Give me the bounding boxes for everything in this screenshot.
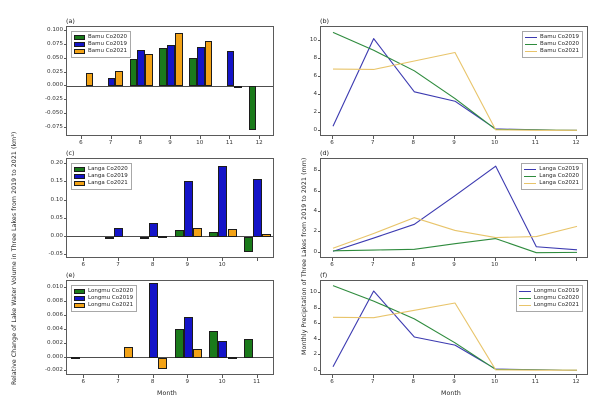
ytick-label-e-5: 0.000 (32, 354, 63, 360)
y-axis-label-left: Relative Change of Lake Water Volume in … (11, 132, 18, 385)
legend-item-b-1[interactable]: Bamu Co2020 (525, 41, 579, 48)
ytick-label-d-4: 8 (286, 167, 317, 173)
xtick-label-d-0: 6 (330, 262, 334, 268)
x-axis-label-e: Month (157, 390, 177, 397)
xtick-label-e-4: 10 (218, 379, 225, 385)
xtick-label-c-3: 9 (186, 262, 190, 268)
ytick-label-c-2: 0.10 (32, 197, 63, 203)
bar-a-1-3[interactable] (167, 45, 175, 87)
legend-item-f-2[interactable]: Longmu Co2021 (519, 302, 579, 309)
xtick-label-b-6: 12 (572, 140, 579, 146)
xtick-label-d-3: 9 (452, 262, 456, 268)
ytick-label-f-0: 0 (286, 367, 317, 373)
xtick-mark-c-3 (187, 258, 188, 261)
bar-c-2-4[interactable] (228, 229, 237, 237)
bar-e-2-2[interactable] (158, 358, 167, 370)
xtick-mark-c-0 (83, 258, 84, 261)
ytick-label-c-5: -0.05 (32, 251, 63, 257)
legend-label-e-1: Longmu Co2019 (88, 295, 133, 302)
xtick-label-b-3: 9 (452, 140, 456, 146)
xtick-mark-c-1 (118, 258, 119, 261)
ytick-label-b-1: 2 (286, 109, 317, 115)
ytick-label-c-1: 0.15 (32, 178, 63, 184)
legend-label-b-0: Bamu Co2019 (540, 34, 579, 41)
legend-item-a-2[interactable]: Bamu Co2021 (74, 48, 127, 55)
ytick-label-b-3: 6 (286, 73, 317, 79)
ytick-label-f-1: 2 (286, 351, 317, 357)
ytick-label-e-4: 0.002 (32, 340, 63, 346)
plot-area-b: Bamu Co2019Bamu Co2020Bamu Co2021 (320, 26, 588, 136)
bar-a-2-0[interactable] (86, 73, 94, 86)
legend-label-d-0: Langa Co2019 (539, 166, 579, 173)
bar-a-1-1[interactable] (108, 78, 116, 86)
xtick-label-c-2: 8 (151, 262, 155, 268)
legend-line-f-0 (519, 291, 531, 292)
legend-label-e-2: Longmu Co2021 (88, 302, 133, 309)
legend-label-f-0: Longmu Co2019 (534, 288, 579, 295)
ytick-label-b-2: 4 (286, 91, 317, 97)
legend-line-d-1 (524, 176, 536, 177)
ytick-label-a-4: 0.000 (32, 82, 63, 88)
legend-a: Bamu Co2020Bamu Co2019Bamu Co2021 (71, 31, 131, 58)
xtick-label-a-4: 10 (196, 140, 203, 146)
panel-d: Langa Co2019Langa Co2020Langa Co2021 (320, 158, 588, 258)
xtick-label-b-1: 7 (371, 140, 375, 146)
xtick-label-a-6: 12 (256, 140, 263, 146)
legend-swatch-c-1 (74, 174, 85, 179)
ytick-label-e-2: 0.006 (32, 312, 63, 318)
legend-line-f-1 (519, 298, 531, 299)
xtick-mark-a-4 (200, 136, 201, 139)
plot-area-d: Langa Co2019Langa Co2020Langa Co2021 (320, 158, 588, 258)
ytick-label-e-1: 0.008 (32, 298, 63, 304)
bar-a-2-3[interactable] (175, 33, 183, 87)
ytick-label-d-3: 6 (286, 188, 317, 194)
panel-label-c: (c) (66, 149, 75, 157)
legend-label-d-2: Langa Co2021 (539, 180, 579, 187)
legend-line-d-0 (524, 169, 536, 170)
legend-label-f-2: Longmu Co2021 (534, 302, 579, 309)
legend-item-c-2[interactable]: Langa Co2021 (74, 180, 128, 187)
ytick-label-e-3: 0.004 (32, 326, 63, 332)
bar-c-0-5[interactable] (244, 237, 253, 253)
panel-label-a: (a) (66, 17, 75, 25)
legend-label-c-1: Langa Co2019 (88, 173, 128, 180)
bar-c-2-2[interactable] (158, 236, 167, 238)
line-f-2 (333, 303, 577, 370)
panel-b: Bamu Co2019Bamu Co2020Bamu Co2021 (320, 26, 588, 136)
ytick-label-a-6: -0.050 (32, 110, 63, 116)
ytick-label-e-0: 0.010 (32, 284, 63, 290)
xtick-mark-a-1 (111, 136, 112, 139)
ytick-label-f-2: 4 (286, 336, 317, 342)
xtick-label-f-1: 7 (371, 379, 375, 385)
legend-c: Langa Co2020Langa Co2019Langa Co2021 (71, 163, 132, 190)
bar-a-0-6[interactable] (249, 86, 257, 130)
xtick-label-c-0: 6 (82, 262, 86, 268)
ytick-label-a-2: 0.050 (32, 55, 63, 61)
xtick-label-f-3: 9 (452, 379, 456, 385)
ytick-label-c-0: 0.20 (32, 160, 63, 166)
figure-canvas: Relative Change of Lake Water Volume in … (0, 0, 600, 413)
legend-item-f-1[interactable]: Longmu Co2020 (519, 295, 579, 302)
xtick-label-d-1: 7 (371, 262, 375, 268)
xtick-mark-e-2 (153, 375, 154, 378)
ytick-label-a-3: 0.025 (32, 69, 63, 75)
legend-item-c-1[interactable]: Langa Co2019 (74, 173, 128, 180)
ytick-label-d-1: 2 (286, 228, 317, 234)
bar-a-0-2[interactable] (130, 59, 138, 86)
legend-line-d-2 (524, 183, 536, 184)
xtick-label-f-4: 10 (491, 379, 498, 385)
ytick-label-c-3: 0.05 (32, 215, 63, 221)
bar-e-0-0[interactable] (71, 357, 80, 359)
ytick-label-b-4: 8 (286, 55, 317, 61)
xtick-label-a-1: 7 (109, 140, 113, 146)
legend-item-c-0[interactable]: Langa Co2020 (74, 166, 128, 173)
legend-item-e-0[interactable]: Longmu Co2020 (74, 288, 133, 295)
panel-label-f: (f) (320, 271, 327, 279)
bar-c-1-3[interactable] (184, 181, 193, 236)
ytick-label-b-0: 0 (286, 127, 317, 133)
legend-label-d-1: Langa Co2020 (539, 173, 579, 180)
legend-swatch-e-1 (74, 296, 85, 301)
xtick-label-c-4: 10 (218, 262, 225, 268)
ytick-label-f-3: 6 (286, 320, 317, 326)
legend-label-c-0: Langa Co2020 (88, 166, 128, 173)
bar-c-1-4[interactable] (218, 166, 227, 236)
ytick-label-a-7: -0.075 (32, 124, 63, 130)
xtick-mark-a-5 (229, 136, 230, 139)
xtick-mark-a-6 (259, 136, 260, 139)
ytick-label-d-0: 0 (286, 249, 317, 255)
bar-c-0-1[interactable] (105, 237, 114, 239)
zero-line-e (67, 357, 273, 358)
panel-label-d: (d) (320, 149, 329, 157)
legend-label-b-1: Bamu Co2020 (540, 41, 579, 48)
line-b-2 (333, 52, 577, 130)
legend-d: Langa Co2019Langa Co2020Langa Co2021 (521, 163, 583, 190)
xtick-label-a-0: 6 (79, 140, 83, 146)
legend-line-b-1 (525, 44, 537, 45)
bar-c-0-4[interactable] (209, 232, 218, 237)
legend-f: Longmu Co2019Longmu Co2020Longmu Co2021 (516, 285, 583, 312)
bar-c-1-2[interactable] (149, 223, 158, 236)
legend-item-d-2[interactable]: Langa Co2021 (524, 180, 579, 187)
legend-label-e-0: Longmu Co2020 (88, 288, 133, 295)
ytick-label-d-2: 4 (286, 208, 317, 214)
plot-area-f: Longmu Co2019Longmu Co2020Longmu Co2021 (320, 280, 588, 375)
xtick-label-c-1: 7 (116, 262, 120, 268)
legend-item-a-1[interactable]: Bamu Co2019 (74, 41, 127, 48)
xtick-mark-e-3 (187, 375, 188, 378)
legend-item-b-0[interactable]: Bamu Co2019 (525, 34, 579, 41)
ytick-label-a-1: 0.075 (32, 41, 63, 47)
legend-swatch-a-1 (74, 42, 85, 47)
xtick-mark-e-4 (222, 375, 223, 378)
xtick-label-f-2: 8 (412, 379, 416, 385)
xtick-mark-e-0 (83, 375, 84, 378)
xtick-mark-c-4 (222, 258, 223, 261)
xtick-label-b-4: 10 (491, 140, 498, 146)
legend-item-f-0[interactable]: Longmu Co2019 (519, 288, 579, 295)
ytick-label-f-4: 8 (286, 305, 317, 311)
xtick-label-b-2: 8 (412, 140, 416, 146)
legend-label-f-1: Longmu Co2020 (534, 295, 579, 302)
legend-swatch-a-2 (74, 49, 85, 54)
xtick-label-e-3: 9 (186, 379, 190, 385)
bar-a-2-1[interactable] (115, 71, 123, 86)
legend-swatch-e-0 (74, 289, 85, 294)
panel-e: Longmu Co2020Longmu Co2019Longmu Co2021 (66, 280, 274, 375)
ytick-label-c-4: 0.00 (32, 233, 63, 239)
panel-label-b: (b) (320, 17, 329, 25)
bar-e-1-4[interactable] (218, 341, 227, 357)
bar-a-2-5[interactable] (234, 86, 242, 88)
xtick-mark-c-2 (153, 258, 154, 261)
bar-e-1-3[interactable] (184, 317, 193, 358)
bar-e-0-5[interactable] (244, 339, 253, 358)
legend-swatch-e-2 (74, 303, 85, 308)
bar-e-2-3[interactable] (193, 349, 202, 358)
legend-item-a-0[interactable]: Bamu Co2020 (74, 34, 127, 41)
bar-a-0-4[interactable] (189, 58, 197, 87)
legend-label-a-0: Bamu Co2020 (88, 34, 127, 41)
legend-e: Longmu Co2020Longmu Co2019Longmu Co2021 (71, 285, 137, 312)
plot-area-a: Bamu Co2020Bamu Co2019Bamu Co2021 (66, 26, 274, 136)
panel-label-e: (e) (66, 271, 75, 279)
bar-a-2-2[interactable] (145, 54, 153, 86)
xtick-mark-a-2 (140, 136, 141, 139)
legend-item-d-1[interactable]: Langa Co2020 (524, 173, 579, 180)
bar-a-1-5[interactable] (227, 51, 235, 86)
xtick-label-a-2: 8 (139, 140, 143, 146)
xtick-label-d-2: 8 (412, 262, 416, 268)
xtick-label-f-0: 6 (330, 379, 334, 385)
bar-a-1-4[interactable] (197, 47, 205, 87)
bar-e-2-4[interactable] (228, 357, 237, 359)
panel-c: Langa Co2020Langa Co2019Langa Co2021 (66, 158, 274, 258)
xtick-mark-e-5 (257, 375, 258, 378)
ytick-label-b-5: 10 (286, 37, 317, 43)
bar-e-1-2[interactable] (149, 283, 158, 358)
bar-e-2-1[interactable] (124, 347, 133, 358)
xtick-label-e-2: 8 (151, 379, 155, 385)
xtick-mark-c-5 (257, 258, 258, 261)
xtick-label-d-4: 10 (491, 262, 498, 268)
bar-c-2-3[interactable] (193, 228, 202, 236)
bar-e-0-4[interactable] (209, 331, 218, 358)
ytick-label-a-5: -0.025 (32, 96, 63, 102)
bar-e-0-3[interactable] (175, 329, 184, 358)
legend-item-d-0[interactable]: Langa Co2019 (524, 166, 579, 173)
xtick-mark-a-0 (81, 136, 82, 139)
legend-line-b-0 (525, 37, 537, 38)
panel-f: Longmu Co2019Longmu Co2020Longmu Co2021 (320, 280, 588, 375)
legend-item-e-1[interactable]: Longmu Co2019 (74, 295, 133, 302)
bar-c-1-5[interactable] (253, 179, 262, 237)
legend-label-a-1: Bamu Co2019 (88, 41, 127, 48)
panel-a: Bamu Co2020Bamu Co2019Bamu Co2021 (66, 26, 274, 136)
bar-c-0-2[interactable] (140, 237, 149, 239)
legend-label-c-2: Langa Co2021 (88, 180, 128, 187)
bar-c-2-5[interactable] (262, 234, 271, 237)
bar-a-0-3[interactable] (159, 48, 167, 87)
bar-a-2-4[interactable] (205, 41, 213, 86)
xtick-label-b-5: 11 (532, 140, 539, 146)
zero-line-c (67, 236, 273, 237)
xtick-label-f-6: 12 (572, 379, 579, 385)
legend-label-a-2: Bamu Co2021 (88, 48, 127, 55)
xtick-label-e-0: 6 (82, 379, 86, 385)
ytick-label-a-0: 0.100 (32, 27, 63, 33)
ytick-label-f-5: 10 (286, 289, 317, 295)
legend-b: Bamu Co2019Bamu Co2020Bamu Co2021 (522, 31, 583, 58)
legend-swatch-c-0 (74, 167, 85, 172)
legend-swatch-c-2 (74, 181, 85, 186)
bar-c-1-1[interactable] (114, 228, 123, 237)
legend-item-b-2[interactable]: Bamu Co2021 (525, 48, 579, 55)
xtick-label-b-0: 6 (330, 140, 334, 146)
xtick-label-e-5: 11 (253, 379, 260, 385)
xtick-label-f-5: 11 (532, 379, 539, 385)
line-d-1 (333, 239, 577, 253)
plot-area-e: Longmu Co2020Longmu Co2019Longmu Co2021 (66, 280, 274, 375)
xtick-mark-e-1 (118, 375, 119, 378)
bar-c-0-3[interactable] (175, 230, 184, 236)
legend-swatch-a-0 (74, 35, 85, 40)
legend-item-e-2[interactable]: Longmu Co2021 (74, 302, 133, 309)
bar-a-1-2[interactable] (137, 50, 145, 86)
legend-label-b-2: Bamu Co2021 (540, 48, 579, 55)
x-axis-label-f: Month (441, 390, 461, 397)
xtick-mark-a-3 (170, 136, 171, 139)
legend-line-b-2 (525, 51, 537, 52)
ytick-label-e-6: -0.002 (32, 367, 63, 373)
legend-line-f-2 (519, 305, 531, 306)
xtick-label-e-1: 7 (116, 379, 120, 385)
plot-area-c: Langa Co2020Langa Co2019Langa Co2021 (66, 158, 274, 258)
xtick-label-a-3: 9 (168, 140, 172, 146)
xtick-label-a-5: 11 (226, 140, 233, 146)
